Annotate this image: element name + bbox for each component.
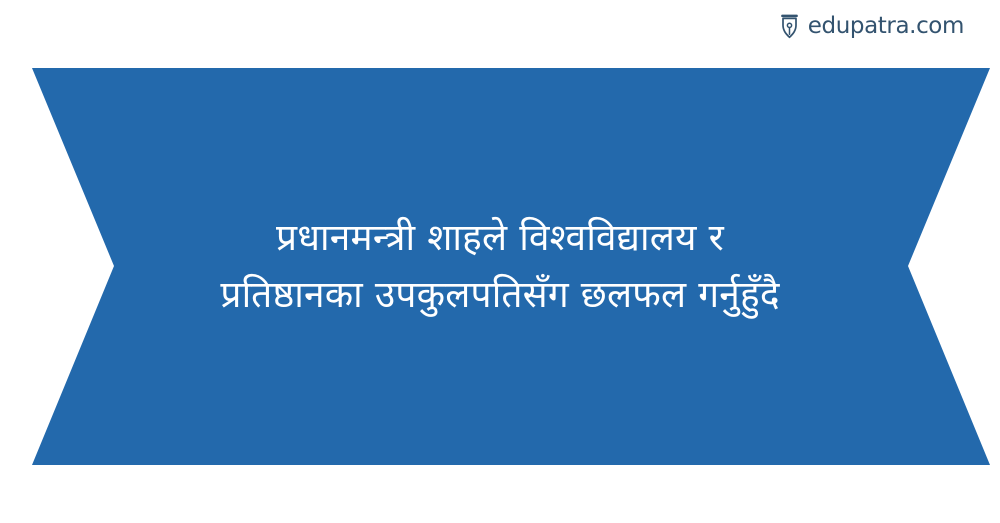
brand-wordmark: edupatra.com (808, 13, 964, 39)
page-header: edupatra.com (0, 0, 1000, 70)
headline-banner: प्रधानमन्त्री शाहले विश्वविद्यालय र प्रत… (0, 68, 1000, 465)
banner-chevron-shape (0, 68, 1000, 465)
footer-whitespace (0, 465, 1000, 523)
brand-logo[interactable]: edupatra.com (778, 11, 964, 41)
page-root: edupatra.com प्रधानमन्त्री शाहले विश्ववि… (0, 0, 1000, 523)
fountain-pen-nib-icon (778, 13, 801, 39)
